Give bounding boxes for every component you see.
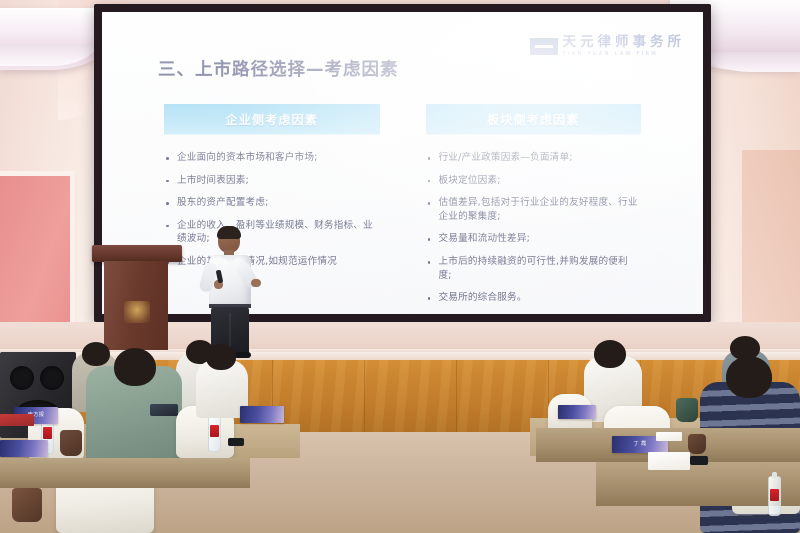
audience-head	[206, 344, 236, 370]
list-item: 交易量和流动性差异;	[426, 232, 642, 246]
audience-head	[594, 340, 626, 368]
podium-top	[92, 245, 182, 262]
presenter-right-shoe	[234, 352, 251, 358]
table-row	[0, 458, 250, 488]
law-firm-logo: 天元律师事务所 TIAN YUAN LAW FIRM	[530, 36, 686, 57]
audience-head	[726, 356, 772, 398]
slide-columns: 企业侧考虑因素 企业面向的资本市场和客户市场; 上市时间表因素; 股东的资产配置…	[102, 104, 703, 314]
presenter-hair	[217, 226, 241, 239]
water-bottle	[208, 412, 221, 452]
list-item: 行业/产业政策因素—负面清单;	[426, 151, 642, 165]
podium-emblem-icon	[124, 301, 150, 323]
audience-head	[82, 342, 110, 366]
podium	[96, 245, 178, 350]
column-header-board: 板块侧考虑因素	[426, 104, 642, 135]
tea-mug	[60, 430, 82, 456]
red-folder	[0, 414, 34, 426]
projection-screen-frame: 三、上市路径选择—考虑因素 天元律师事务所 TIAN YUAN LAW FIRM…	[94, 4, 711, 322]
column-header-enterprise-label: 企业侧考虑因素	[226, 111, 318, 128]
list-item: 企业面向的资本市场和客户市场;	[164, 151, 380, 165]
list-item: 估值差异,包括对于行业企业的友好程度、行业企业的聚集度;	[426, 196, 642, 223]
presenter	[196, 228, 268, 354]
water-bottle	[768, 476, 781, 516]
column-header-board-label: 板块侧考虑因素	[487, 111, 579, 128]
left-wall-pink-panel	[0, 176, 70, 341]
laptop	[150, 404, 178, 416]
tea-mug	[676, 398, 698, 422]
tea-mug	[12, 488, 42, 522]
phone	[228, 438, 244, 446]
logo-english-name: TIAN YUAN LAW FIRM	[563, 52, 686, 57]
list-item: 上市后的持续融资的可行性,并购发展的便利度;	[426, 255, 642, 282]
phone	[690, 456, 708, 465]
name-plate	[240, 406, 284, 423]
bullet-list-board: 行业/产业政策因素—负面清单; 板块定位因素; 估值差异,包括对于行业企业的友好…	[426, 151, 642, 305]
logo-mark-icon	[530, 38, 558, 55]
logo-chinese-name: 天元律师事务所	[563, 36, 686, 50]
list-item: 上市时间表因素;	[164, 174, 380, 188]
audience-head	[114, 348, 156, 386]
tea-mug	[688, 434, 706, 454]
list-item: 板块定位因素;	[426, 174, 642, 188]
name-plate	[558, 405, 596, 419]
column-header-enterprise: 企业侧考虑因素	[164, 104, 380, 135]
column-board-side: 板块侧考虑因素 行业/产业政策因素—负面清单; 板块定位因素; 估值差异,包括对…	[426, 104, 642, 314]
right-wall-panel	[742, 150, 800, 340]
name-plate	[0, 440, 48, 457]
presenter-right-hand	[251, 279, 261, 287]
conference-photo: 三、上市路径选择—考虑因素 天元律师事务所 TIAN YUAN LAW FIRM…	[0, 0, 800, 533]
projection-screen: 三、上市路径选择—考虑因素 天元律师事务所 TIAN YUAN LAW FIRM…	[102, 12, 703, 314]
list-item: 股东的资产配置考虑;	[164, 196, 380, 210]
list-item: 交易所的综合服务。	[426, 291, 642, 305]
name-plate-label: 丁 霞	[612, 440, 668, 447]
paper-document	[648, 452, 690, 470]
page-title: 三、上市路径选择—考虑因素	[158, 56, 399, 81]
paper-document	[656, 432, 682, 441]
